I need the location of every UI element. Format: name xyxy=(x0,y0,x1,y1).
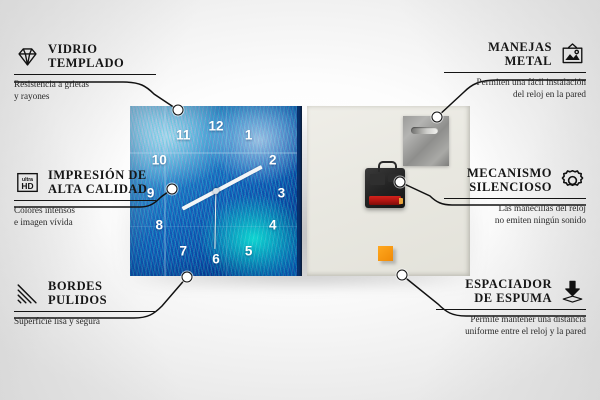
mechanism-hanging-loop xyxy=(378,161,397,172)
clock-numeral-2: 2 xyxy=(269,154,277,168)
leader-endpoint-vidrio-templado xyxy=(173,105,184,116)
feature-description: Permiten una fácil instalación del reloj… xyxy=(444,77,586,101)
clock-numeral-4: 4 xyxy=(269,218,277,232)
feature-header: BORDES PULIDOS xyxy=(14,279,156,308)
feature-description: Permite mantener una distancia uniforme … xyxy=(436,314,586,338)
feature-divider xyxy=(14,200,156,202)
feature-title: MECANISMO SILENCIOSO xyxy=(467,166,552,195)
infographic-canvas: 12 1 2 3 4 5 6 7 8 9 10 11 xyxy=(0,0,600,400)
feature-header: ESPACIADOR DE ESPUMA xyxy=(436,277,586,306)
feature-header: VIDRIO TEMPLADO xyxy=(14,42,156,71)
feature-description: Resistencia a grietas y rayones xyxy=(14,79,156,103)
battery xyxy=(369,196,401,205)
feature-header: MANEJAS METAL xyxy=(444,40,586,69)
mechanism-detail xyxy=(370,174,385,185)
feature-divider xyxy=(436,309,586,311)
clock-numeral-12: 12 xyxy=(208,120,223,134)
hanger-slot xyxy=(411,127,438,134)
clock-center-cap xyxy=(213,188,219,194)
leader-endpoint-espaciador xyxy=(397,270,408,281)
leader-endpoint-mecanismo xyxy=(395,177,406,188)
feature-description: Superficie lisa y segura xyxy=(14,316,156,328)
ultra-hd-icon: ultra HD xyxy=(14,169,41,196)
feature-title: VIDRIO TEMPLADO xyxy=(48,42,124,71)
clock-mechanism xyxy=(365,168,405,208)
feature-title: BORDES PULIDOS xyxy=(48,279,107,308)
clock-numeral-1: 1 xyxy=(245,128,253,142)
clock-second-hand xyxy=(214,191,216,249)
leader-endpoint-bordes-pulidos xyxy=(182,272,193,283)
feature-description: Colores intensos e imagen vívida xyxy=(14,205,156,229)
clock-hour-hand xyxy=(182,189,217,210)
polished-edge-icon xyxy=(14,280,41,307)
leader-endpoint-impresion xyxy=(167,184,178,195)
feature-divider xyxy=(14,311,156,313)
feature-manejas-metal: MANEJAS METAL Permiten una fácil instala… xyxy=(444,40,586,101)
art-gridline xyxy=(164,106,166,276)
feature-header: MECANISMO SILENCIOSO xyxy=(444,166,586,195)
clock-numeral-10: 10 xyxy=(152,154,167,168)
feature-divider xyxy=(444,72,586,74)
clock-numeral-8: 8 xyxy=(155,218,163,232)
feature-divider xyxy=(14,74,156,76)
clock-numeral-5: 5 xyxy=(245,244,253,258)
leader-endpoint-manejas-metal xyxy=(432,112,443,123)
svg-text:HD: HD xyxy=(21,181,33,191)
feature-title: MANEJAS METAL xyxy=(488,40,552,69)
clock-numeral-11: 11 xyxy=(176,128,190,142)
diamond-icon xyxy=(14,43,41,70)
feature-vidrio-templado: VIDRIO TEMPLADO Resistencia a grietas y … xyxy=(14,42,156,103)
clock-numeral-6: 6 xyxy=(212,252,220,266)
clock-numeral-7: 7 xyxy=(180,244,188,258)
clock-side-edge xyxy=(297,106,302,276)
arrow-down-pad-icon xyxy=(559,278,586,305)
feature-title: ESPACIADOR DE ESPUMA xyxy=(465,277,552,306)
feature-divider xyxy=(444,198,586,200)
feature-title: IMPRESIÓN DE ALTA CALIDAD xyxy=(48,168,147,197)
feature-impresion-alta-calidad: ultra HD IMPRESIÓN DE ALTA CALIDAD Color… xyxy=(14,168,156,229)
gear-icon xyxy=(559,167,586,194)
feature-mecanismo-silencioso: MECANISMO SILENCIOSO Las manecillas del … xyxy=(444,166,586,227)
picture-frame-hook-icon xyxy=(559,41,586,68)
foam-spacer xyxy=(378,246,393,261)
feature-header: ultra HD IMPRESIÓN DE ALTA CALIDAD xyxy=(14,168,156,197)
feature-espaciador-de-espuma: ESPACIADOR DE ESPUMA Permite mantener un… xyxy=(436,277,586,338)
feature-bordes-pulidos: BORDES PULIDOS Superficie lisa y segura xyxy=(14,279,156,328)
product-image: 12 1 2 3 4 5 6 7 8 9 10 11 xyxy=(130,106,470,276)
clock-numeral-3: 3 xyxy=(278,186,286,200)
art-gridline xyxy=(226,106,227,276)
feature-description: Las manecillas del reloj no emiten ningú… xyxy=(444,203,586,227)
metal-hanger-plate xyxy=(403,116,449,166)
